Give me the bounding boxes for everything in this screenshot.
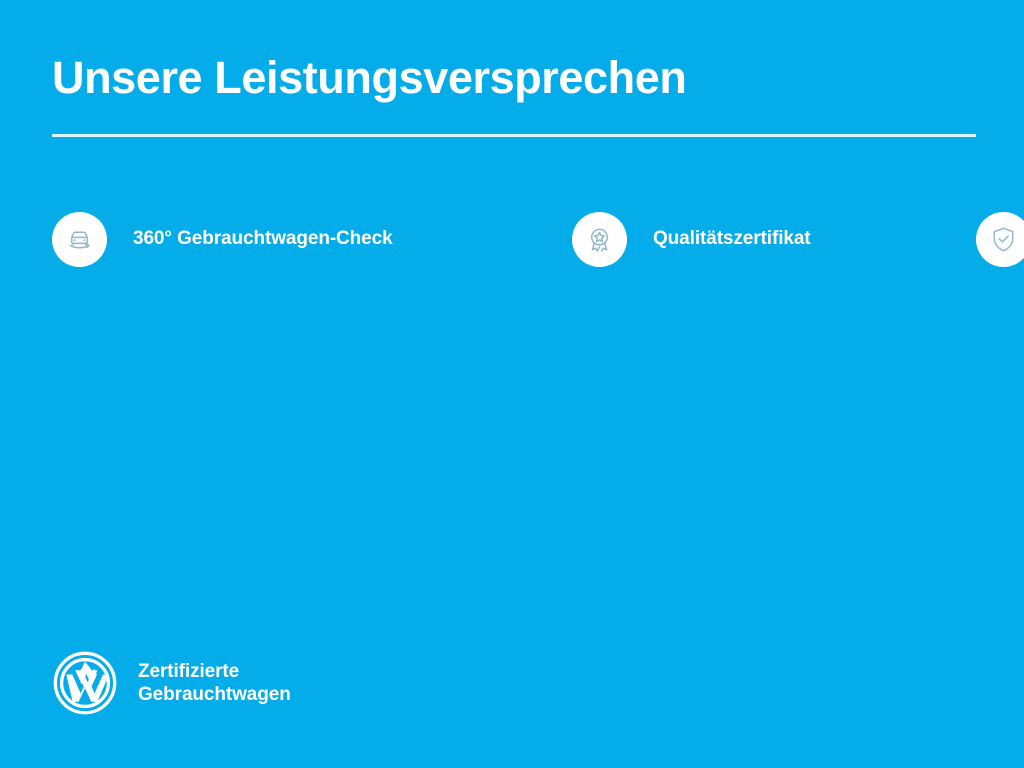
shield-check-icon (976, 212, 1024, 267)
brand-line-2: Gebrauchtwagen (138, 683, 291, 706)
brand-footer: Zertifizierte Gebrauchtwagen (52, 650, 291, 716)
volkswagen-logo (52, 650, 118, 716)
title-divider (52, 134, 976, 137)
page-title: Unsere Leistungsversprechen (52, 50, 976, 106)
benefit-item[interactable]: Gebrauchtwagengarantie (976, 200, 1024, 278)
benefit-item[interactable]: 360° Gebrauchtwagen-Check (52, 200, 572, 278)
benefit-label: Qualitätszertifikat (653, 228, 811, 250)
promise-poster: Unsere Leistungsversprechen 360° Gebrauc… (0, 0, 1024, 768)
brand-text: Zertifizierte Gebrauchtwagen (138, 660, 291, 706)
award-rosette-icon (572, 212, 627, 267)
benefits-list: 360° Gebrauchtwagen-Check Qualitätszerti… (52, 200, 976, 278)
benefit-label: 360° Gebrauchtwagen-Check (133, 228, 393, 250)
benefit-item[interactable]: Qualitätszertifikat (572, 200, 976, 278)
car-360-check-icon (52, 212, 107, 267)
brand-line-1: Zertifizierte (138, 660, 291, 683)
header: Unsere Leistungsversprechen (52, 50, 976, 137)
